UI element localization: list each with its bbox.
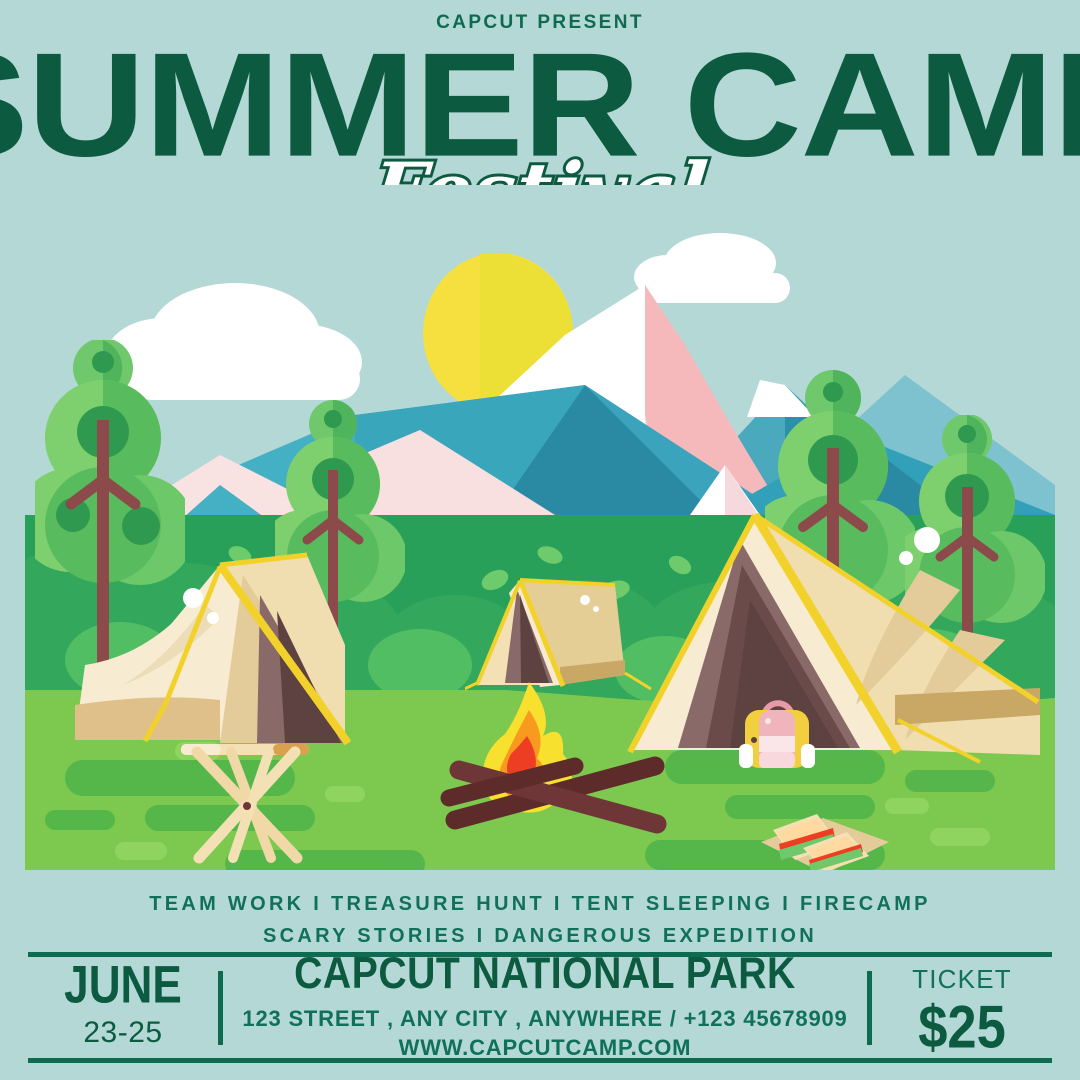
activities-line-2: SCARY STORIES I DANGEROUS EXPEDITION	[0, 920, 1080, 952]
activities-line-1: TEAM WORK I TREASURE HUNT I TENT SLEEPIN…	[0, 888, 1080, 920]
footer-divider-bottom	[28, 1058, 1052, 1063]
right-tent	[620, 490, 1055, 790]
campfire-icon	[425, 670, 685, 850]
activities-list: TEAM WORK I TREASURE HUNT I TENT SLEEPIN…	[0, 888, 1080, 952]
camp-illustration	[25, 185, 1055, 870]
venue-name: CAPCUT NATIONAL PARK	[213, 950, 876, 997]
backpack-icon	[737, 690, 817, 775]
ticket-price: $25	[868, 998, 1057, 1056]
ticket-label: TICKET	[872, 964, 1052, 995]
folding-stool-icon	[175, 740, 325, 870]
event-days: 23-25	[28, 1016, 218, 1050]
venue-block: CAPCUT NATIONAL PARK 123 STREET , ANY CI…	[223, 954, 867, 1061]
event-month: JUNE	[23, 961, 223, 1009]
footer-bar: JUNE 23-25 CAPCUT NATIONAL PARK 123 STRE…	[28, 957, 1052, 1058]
summer-camp-poster: CAPCUT PRESENT SUMMER CAMP Festival	[0, 0, 1080, 1080]
event-date: JUNE 23-25	[28, 966, 218, 1050]
venue-address: 123 STREET , ANY CITY , ANYWHERE / +123 …	[223, 1006, 867, 1032]
sandwiches-icon	[743, 800, 893, 870]
ticket-block: TICKET $25	[872, 964, 1052, 1051]
